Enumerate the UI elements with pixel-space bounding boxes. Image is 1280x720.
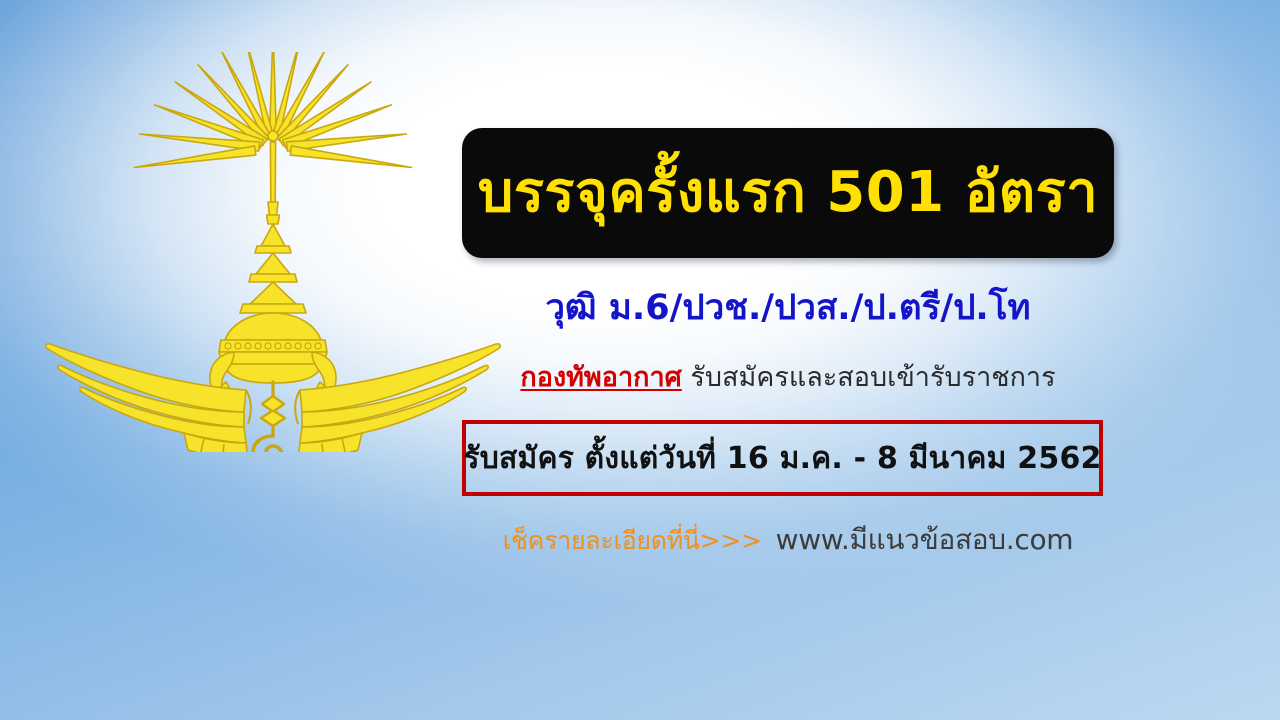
- agency-description: รับสมัครและสอบเข้ารับราชการ: [682, 362, 1056, 393]
- headline-text: บรรจุครั้งแรก 501 อัตรา: [478, 164, 1098, 223]
- website-url[interactable]: www.มีแนวข้อสอบ.com: [776, 518, 1074, 562]
- poster-canvas: บรรจุครั้งแรก 501 อัตรา วุฒิ ม.6/ปวช./ปว…: [0, 0, 1280, 720]
- headline-banner: บรรจุครั้งแรก 501 อัตรา: [462, 128, 1114, 258]
- qualification-text: วุฒิ ม.6/ปวช./ปวส./ป.ตรี/ป.โท: [462, 280, 1114, 335]
- details-cta-text[interactable]: เช็ครายละเอียดที่นี่>>>: [503, 521, 762, 561]
- royal-thai-air-force-emblem: [38, 52, 508, 452]
- footer-line: เช็ครายละเอียดที่นี่>>> www.มีแนวข้อสอบ.…: [462, 518, 1114, 562]
- application-period-box: รับสมัคร ตั้งแต่วันที่ 16 ม.ค. - 8 มีนาค…: [462, 420, 1103, 496]
- crown-tiers: [219, 224, 327, 383]
- application-period-text: รับสมัคร ตั้งแต่วันที่ 16 ม.ค. - 8 มีนาค…: [463, 435, 1101, 482]
- thunderbolt-motif: [253, 382, 285, 452]
- crown-spire: [267, 131, 280, 224]
- agency-line: กองทัพอากาศ รับสมัครและสอบเข้ารับราชการ: [462, 355, 1114, 398]
- poster-content: บรรจุครั้งแรก 501 อัตรา วุฒิ ม.6/ปวช./ปว…: [462, 128, 1122, 562]
- agency-name: กองทัพอากาศ: [520, 362, 681, 393]
